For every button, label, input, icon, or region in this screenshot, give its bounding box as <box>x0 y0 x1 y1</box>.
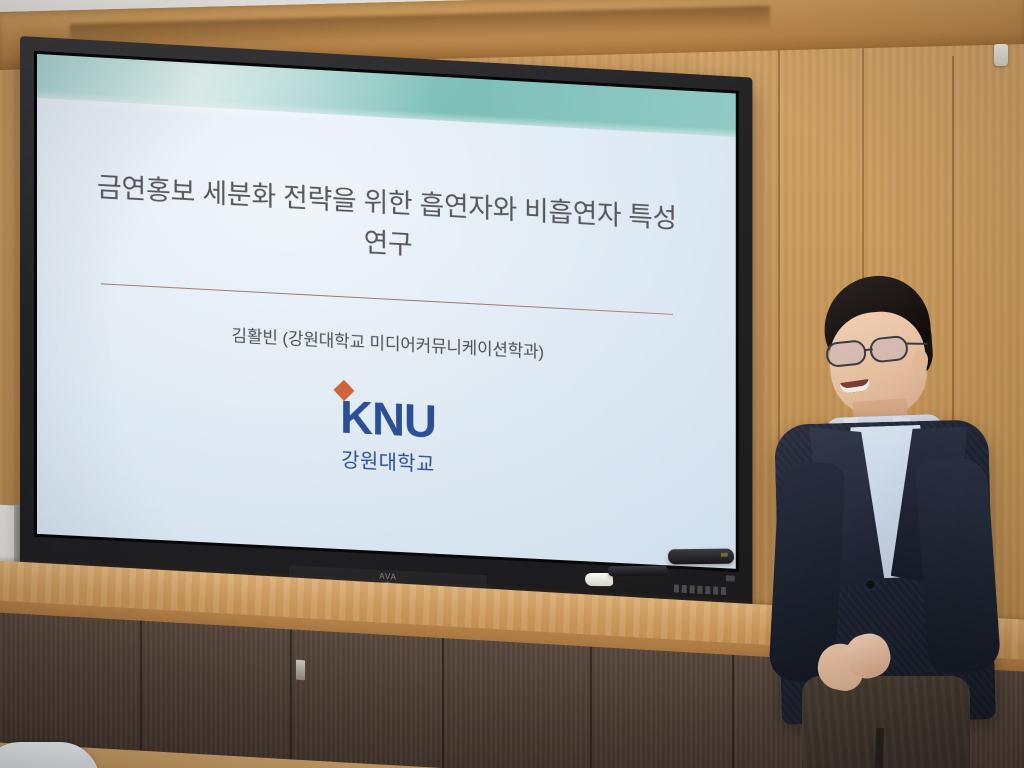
glasses-lens-left <box>825 339 867 368</box>
display-ir-receiver-icon <box>726 575 735 581</box>
knu-logo-subtitle: 강원대학교 <box>341 444 435 478</box>
ceiling-sensor-icon <box>994 44 1008 66</box>
cabinet-latch[interactable] <box>296 660 305 681</box>
presenter <box>770 276 1000 768</box>
knu-wordmark: KNU <box>340 396 436 444</box>
cabinet-seam-2 <box>290 629 292 768</box>
slide-body: 금연홍보 세분화 전략을 위한 흡연자와 비흡연자 특성 연구 김활빈 (강원대… <box>37 98 736 569</box>
knu-logo-row: KNU <box>340 396 436 444</box>
stylus-pen[interactable] <box>608 566 669 577</box>
blazer-button <box>866 580 875 589</box>
slide-divider <box>100 283 673 315</box>
glasses-lens-right <box>869 335 909 364</box>
cabinet-seam-5 <box>732 655 734 768</box>
remote-control-right[interactable] <box>668 549 735 565</box>
display-brand-label: AVA <box>379 572 397 582</box>
display-screen[interactable]: 금연홍보 세분화 전략을 위한 흡연자와 비흡연자 특성 연구 김활빈 (강원대… <box>37 54 736 569</box>
interactive-display[interactable]: 금연홍보 세분화 전략을 위한 흡연자와 비흡연자 특성 연구 김활빈 (강원대… <box>20 36 752 624</box>
slide-author: 김활빈 (강원대학교 미디어커뮤니케이션학과) <box>232 322 544 363</box>
trousers <box>802 676 970 768</box>
cabinet-seam-1 <box>140 621 142 768</box>
cabinet-seam-3 <box>442 638 444 768</box>
glasses-temple <box>905 343 927 346</box>
presentation-slide: 금연홍보 세분화 전략을 위한 흡연자와 비흡연자 특성 연구 김활빈 (강원대… <box>37 54 736 569</box>
slide-title: 금연홍보 세분화 전략을 위한 흡연자와 비흡연자 특성 연구 <box>93 167 680 281</box>
photo-scene: 금연홍보 세분화 전략을 위한 흡연자와 비흡연자 특성 연구 김활빈 (강원대… <box>0 0 1024 768</box>
cabinet-seam-4 <box>590 647 592 768</box>
blazer-sleeve-right <box>915 456 1002 675</box>
knu-logo: KNU 강원대학교 <box>340 396 436 477</box>
